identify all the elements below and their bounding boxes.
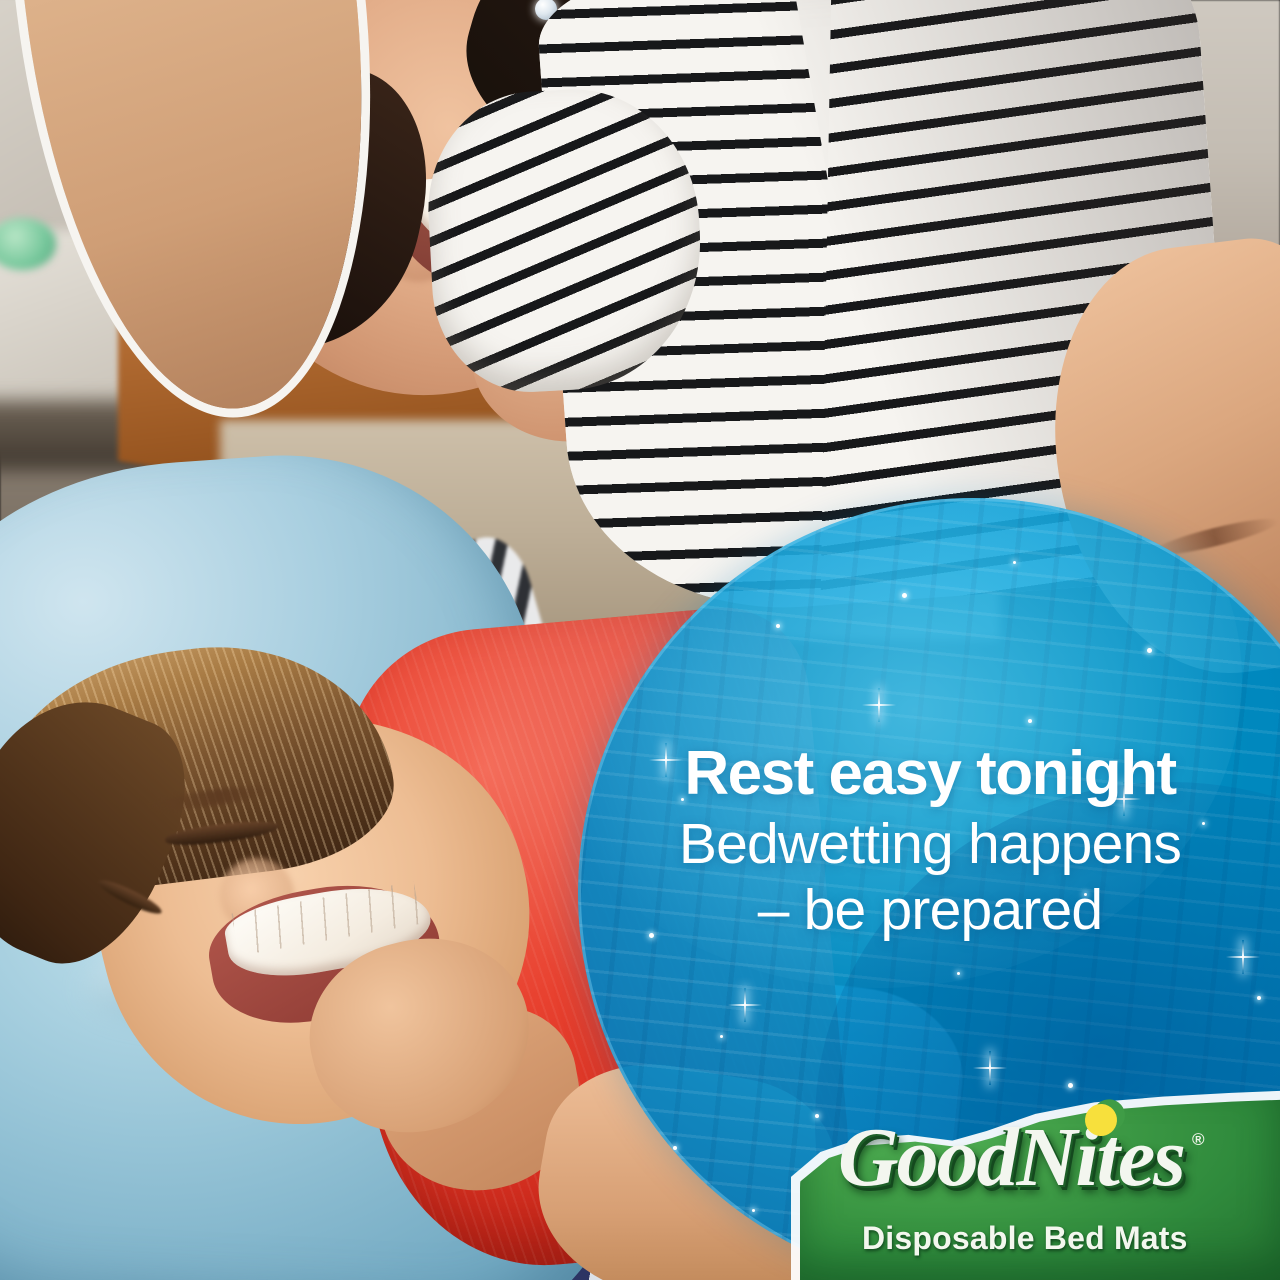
headline-block: Rest easy tonight Bedwetting happens – b… [600,742,1260,943]
brand-logo-badge: GoodNites ® Disposable Bed Mats [800,1098,1280,1280]
sparkle-star-icon [1242,940,1244,974]
headline-line-1: Rest easy tonight [600,742,1260,805]
headline-line-3: – be prepared [600,879,1260,943]
sparkle-star-icon [744,988,746,1022]
sparkle-star-icon [989,1051,991,1085]
registered-trademark-symbol: ® [1192,1130,1205,1150]
advertisement-image: Rest easy tonight Bedwetting happens – b… [0,0,1280,1280]
brand-tagline: Disposable Bed Mats [862,1220,1188,1257]
badge-content: GoodNites ® Disposable Bed Mats [800,1098,1280,1280]
brand-wordmark: GoodNites [838,1116,1184,1200]
headline-line-2: Bedwetting happens [600,813,1260,877]
sparkle-star-icon [878,688,880,722]
